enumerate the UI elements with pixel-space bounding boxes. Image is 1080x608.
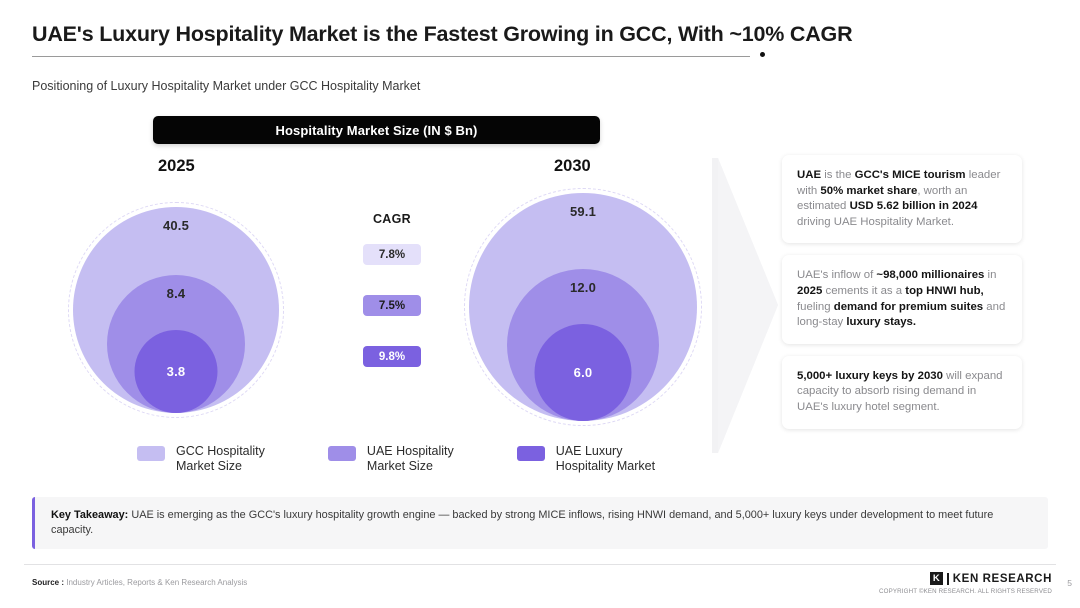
legend-item-uae: UAE Hospitality Market Size [328,444,454,474]
year-label-2025: 2025 [158,157,195,176]
legend-label-luxury: UAE Luxury Hospitality Market [556,444,655,474]
bubble-luxury-2025: 3.8 [135,330,218,413]
brand-name: KEN RESEARCH [953,573,1052,585]
slide: UAE's Luxury Hospitality Market is the F… [0,0,1080,608]
source-text: Industry Articles, Reports & Ken Researc… [66,578,247,587]
source-line: Source : Industry Articles, Reports & Ke… [32,578,247,587]
header: UAE's Luxury Hospitality Market is the F… [32,22,772,57]
footer-divider [24,564,1056,565]
page-title: UAE's Luxury Hospitality Market is the F… [32,22,772,47]
cagr-pill-luxury: 9.8% [363,346,421,367]
cagr-value-uae: 7.5% [379,300,405,312]
insight-card-keys: 5,000+ luxury keys by 2030 will expand c… [782,356,1022,429]
source-label: Source : [32,578,64,587]
insight-cards: UAE is the GCC's MICE tourism leader wit… [782,155,1022,441]
copyright-text: COPYRIGHT ©KEN RESEARCH. ALL RIGHTS RESE… [879,588,1052,595]
chart-panel: Hospitality Market Size (IN $ Bn) 2025 2… [32,112,732,484]
bubble-value-luxury-2025: 3.8 [167,364,186,379]
cagr-pill-gcc: 7.8% [363,244,421,265]
insight-card-hnwi: UAE's inflow of ~98,000 millionaires in … [782,255,1022,343]
page-subtitle: Positioning of Luxury Hospitality Market… [32,79,420,93]
year-label-2030: 2030 [554,157,591,176]
brand-row: K KEN RESEARCH [879,572,1052,585]
insight-card-mice: UAE is the GCC's MICE tourism leader wit… [782,155,1022,243]
title-divider [32,56,750,57]
bubble-luxury-2030: 6.0 [535,324,632,421]
insight-card-hnwi-text: UAE's inflow of ~98,000 millionaires in … [797,268,1008,330]
bubble-group-2030: 59.1 12.0 6.0 [464,180,702,426]
cagr-header: CAGR [342,212,442,226]
cagr-pill-uae: 7.5% [363,295,421,316]
legend-swatch-luxury [517,446,545,461]
ken-research-logo-icon: K [930,572,943,585]
insight-card-mice-text: UAE is the GCC's MICE tourism leader wit… [797,168,1008,230]
page-number: 5 [1067,578,1072,588]
brand-block: K KEN RESEARCH COPYRIGHT ©KEN RESEARCH. … [879,572,1052,595]
bubble-value-luxury-2030: 6.0 [574,365,593,380]
chart-legend: GCC Hospitality Market Size UAE Hospital… [137,444,655,474]
legend-swatch-gcc [137,446,165,461]
chart-title: Hospitality Market Size (IN $ Bn) [276,123,478,138]
brand-divider-bar [947,573,949,585]
bubble-group-2025: 40.5 8.4 3.8 [68,188,284,418]
cagr-value-luxury: 9.8% [379,351,405,363]
chevron-arrow-icon [712,158,780,453]
legend-label-uae: UAE Hospitality Market Size [367,444,454,474]
key-takeaway-banner: Key Takeaway: UAE is emerging as the GCC… [32,497,1048,549]
title-accent-dot [760,52,765,57]
legend-item-luxury: UAE Luxury Hospitality Market [517,444,655,474]
chart-title-band: Hospitality Market Size (IN $ Bn) [153,116,600,144]
legend-item-gcc: GCC Hospitality Market Size [137,444,265,474]
legend-label-gcc: GCC Hospitality Market Size [176,444,265,474]
cagr-value-gcc: 7.8% [379,249,405,261]
legend-swatch-uae [328,446,356,461]
cagr-column: CAGR 7.8% 7.5% 9.8% [342,212,442,367]
insight-card-keys-text: 5,000+ luxury keys by 2030 will expand c… [797,369,1008,416]
key-takeaway-text: Key Takeaway: UAE is emerging as the GCC… [51,508,1032,538]
